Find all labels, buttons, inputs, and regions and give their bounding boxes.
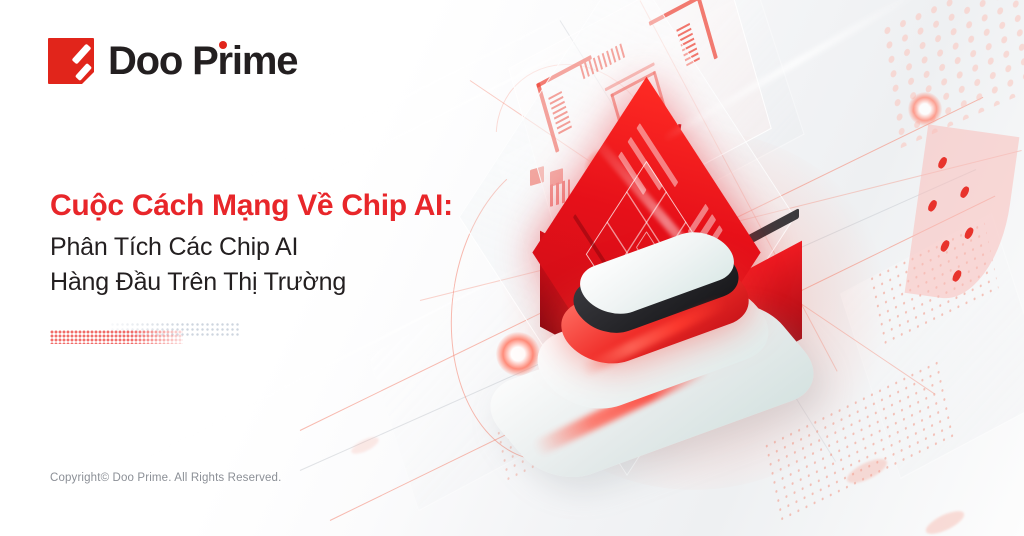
soft-node-4 <box>349 434 381 457</box>
pink-dotted-ribbon <box>905 124 1020 305</box>
halftone-accent-bar <box>50 322 240 348</box>
doo-prime-logo-mark-icon <box>48 38 94 84</box>
accent-bar-red-dots <box>50 330 183 344</box>
headline-block: Cuộc Cách Mạng Về Chip AI: Phân Tích Các… <box>50 186 453 301</box>
logo-i-dot-icon <box>219 41 227 49</box>
copyright-text: Copyright© Doo Prime. All Rights Reserve… <box>50 472 281 484</box>
logo-stroke-1 <box>72 43 92 64</box>
ai-chip-3d-illustration <box>464 0 1024 536</box>
headline-secondary-line-2: Hàng Đầu Trên Thị Trường <box>50 265 453 301</box>
headline-secondary-line-1: Phân Tích Các Chip AI <box>50 230 453 266</box>
brand-name: Doo Prime <box>108 41 297 81</box>
brand-logo[interactable]: Doo Prime <box>48 38 297 84</box>
promo-banner: Doo Prime Cuộc Cách Mạng Về Chip AI: Phâ… <box>0 0 1024 536</box>
headline-primary: Cuộc Cách Mạng Về Chip AI: <box>50 186 453 226</box>
